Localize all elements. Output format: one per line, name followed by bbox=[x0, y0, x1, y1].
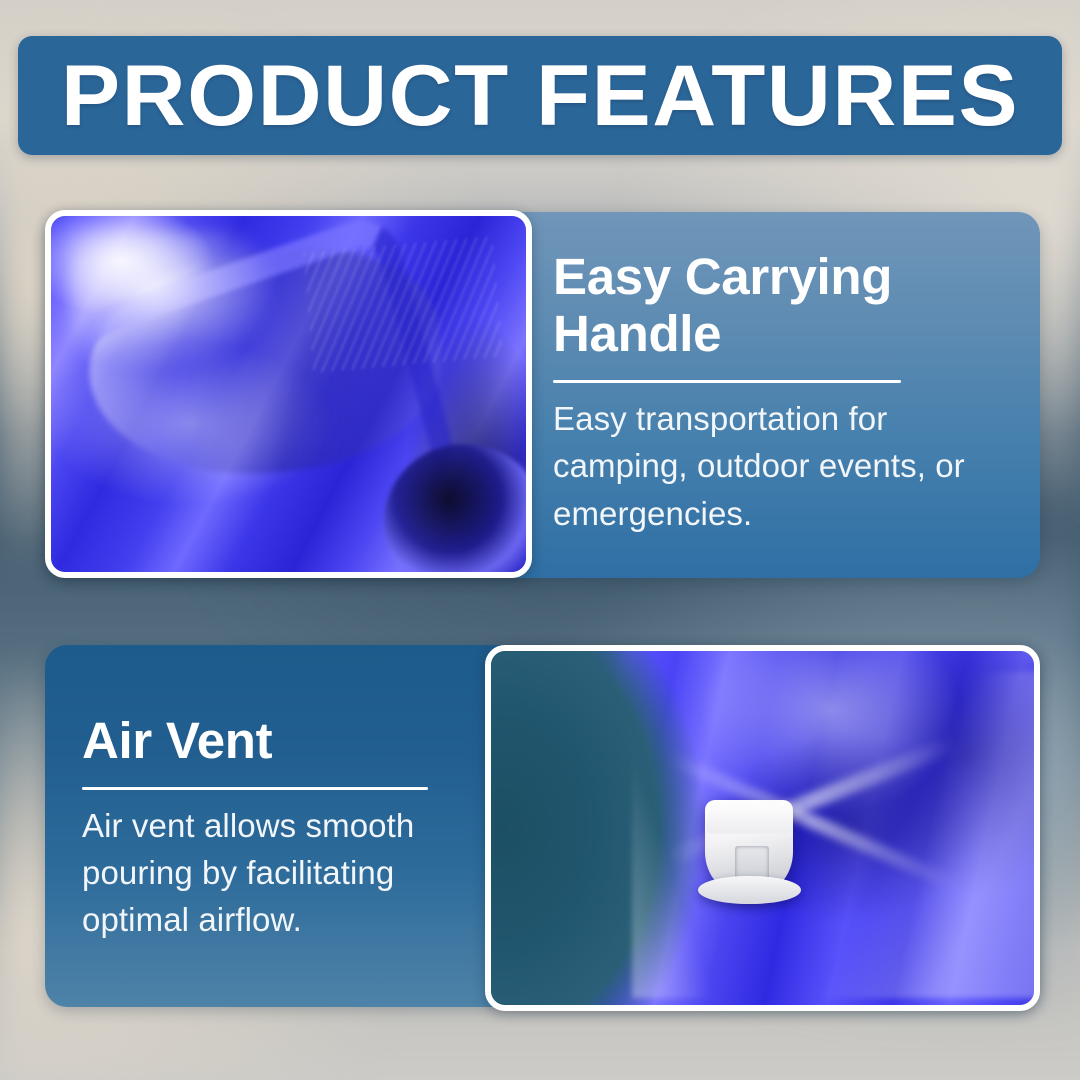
feature-text-air-vent: Air Vent Air vent allows smooth pouring … bbox=[82, 712, 482, 944]
air-vent-cap-crown bbox=[705, 800, 793, 834]
carrying-handle-photo-art bbox=[51, 216, 526, 572]
title-divider bbox=[82, 787, 428, 790]
feature-title-carrying-handle: Easy Carrying Handle bbox=[553, 248, 973, 362]
air-vent-cap bbox=[705, 800, 793, 896]
handle-embossed-text bbox=[303, 236, 503, 373]
page-title: PRODUCT FEATURES bbox=[61, 53, 1019, 139]
feature-description-air-vent: Air vent allows smooth pouring by facili… bbox=[82, 802, 482, 944]
air-vent-photo-art bbox=[491, 651, 1034, 1005]
feature-text-easy-carrying-handle: Easy Carrying Handle Easy transportation… bbox=[553, 248, 973, 537]
header-banner: PRODUCT FEATURES bbox=[18, 36, 1062, 155]
handle-highlight bbox=[70, 230, 279, 372]
feature-image-carrying-handle bbox=[45, 210, 532, 578]
product-features-infographic: PRODUCT FEATURES Easy Carrying Handle Ea… bbox=[0, 0, 1080, 1080]
feature-title-air-vent: Air Vent bbox=[82, 712, 482, 769]
feature-image-air-vent bbox=[485, 645, 1040, 1011]
air-vent-cap-base-ring bbox=[698, 876, 800, 905]
title-divider bbox=[553, 380, 901, 383]
feature-description-carrying-handle: Easy transportation for camping, outdoor… bbox=[553, 395, 973, 537]
